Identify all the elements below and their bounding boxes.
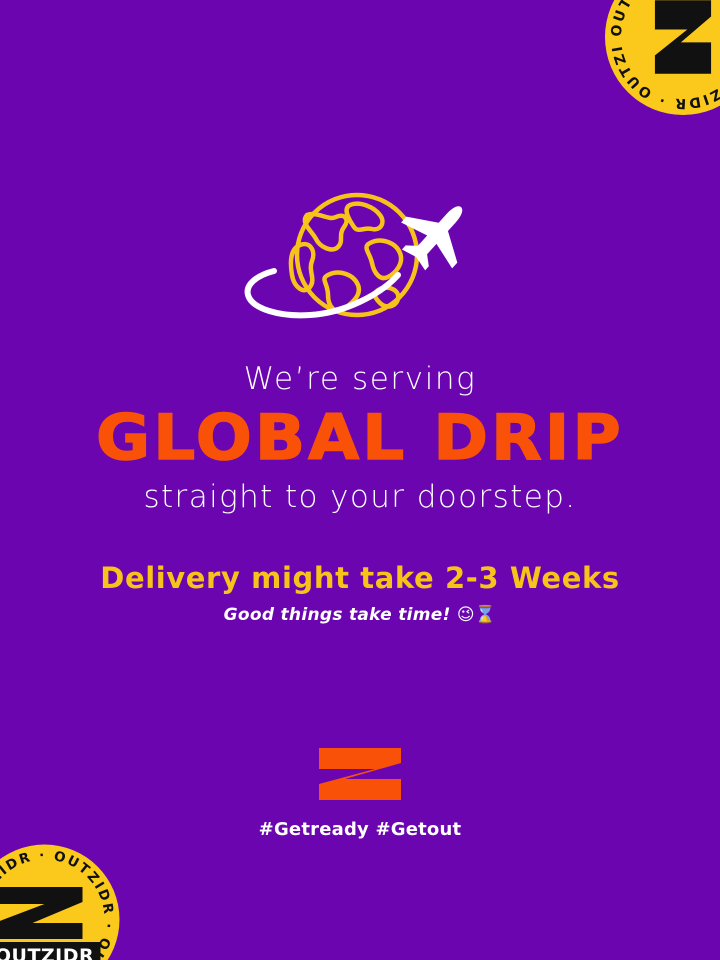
hashtags: #Getready #Getout <box>0 819 720 840</box>
globe-icon <box>291 195 417 315</box>
z-monogram-logo <box>319 748 401 800</box>
poster-copy: We’re serving GLOBAL DRIP straight to yo… <box>0 360 720 625</box>
reassurance-line: Good things take time! 😉⌛ <box>0 605 720 625</box>
serving-line: We’re serving <box>0 360 720 399</box>
wink-hourglass-emoji: 😉⌛ <box>457 605 497 625</box>
reassurance-text: Good things take time! <box>224 605 451 625</box>
outzidr-seal-bottom-left: OUTZIDR · OUTZIDR · OUTZIDR · OUTZIDR · … <box>0 837 127 960</box>
poster-footer: #Getready #Getout <box>0 748 720 840</box>
globe-with-airplane-icon <box>240 183 480 338</box>
promo-poster: OUTZIDR · OUTZIDR · OUTZIDR · OUTZIDR · … <box>0 0 720 960</box>
svg-text:OUTZIDR: OUTZIDR <box>0 945 94 960</box>
delivery-notice: Delivery might take 2-3 Weeks <box>0 561 720 595</box>
airplane-icon <box>388 184 480 283</box>
doorstep-line: straight to your doorstep. <box>0 478 720 517</box>
outzidr-seal-top-right: OUTZIDR · OUTZIDR · OUTZIDR · OUTZIDR · <box>598 0 720 122</box>
page-title: GLOBAL DRIP <box>0 405 720 470</box>
